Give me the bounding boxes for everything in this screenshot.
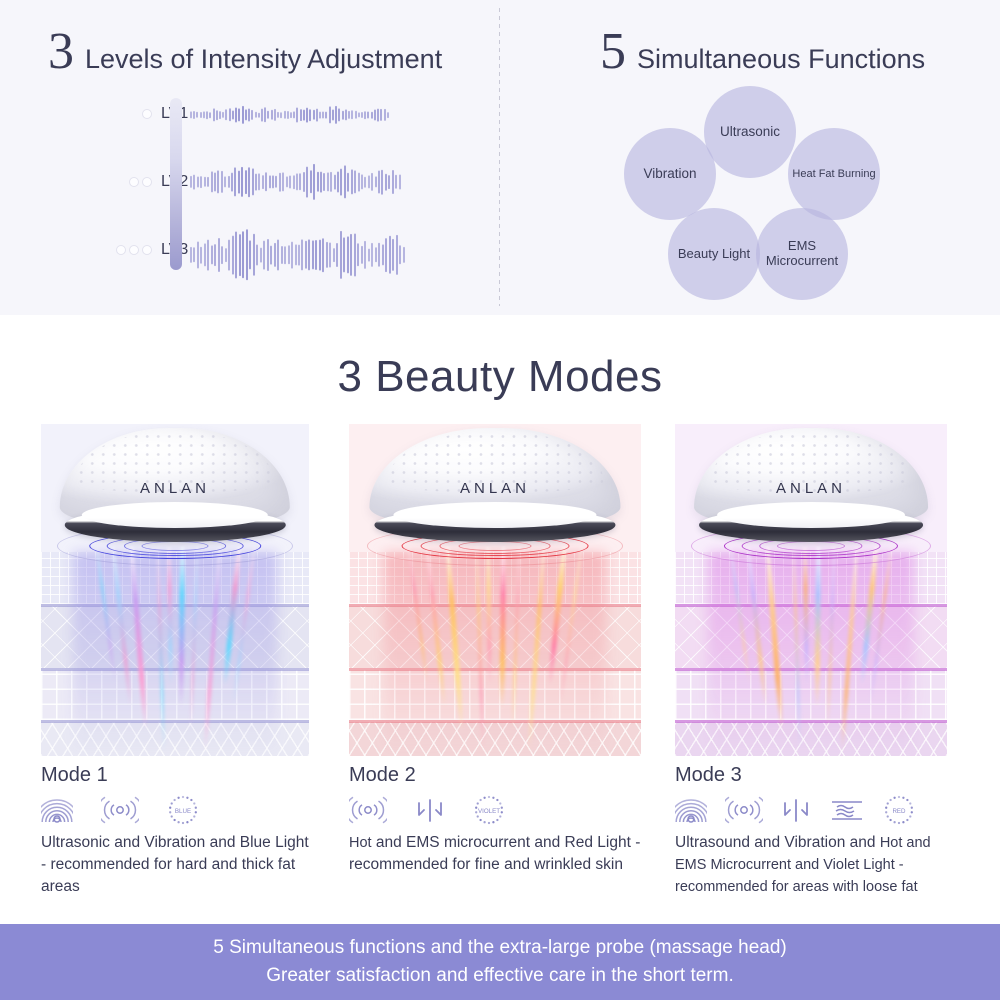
waveform-bar xyxy=(367,112,369,119)
waveform-lv3 xyxy=(190,222,406,288)
waveform-bar xyxy=(190,112,192,119)
functions-circles-cluster: Ultrasonic Heat Fat Burning EMS Microcur… xyxy=(612,86,902,308)
waveform-bar xyxy=(241,167,243,197)
mode-2-desc-lead: Hot xyxy=(349,835,372,851)
ultrasonic-icon xyxy=(675,795,707,825)
waveform-bar xyxy=(358,172,360,191)
waveform-bar xyxy=(193,174,195,189)
waveform-bar xyxy=(378,243,380,267)
function-circle-beauty-light[interactable]: Beauty Light xyxy=(668,208,760,300)
waveform-bar xyxy=(350,234,352,276)
energy-beam xyxy=(826,546,836,730)
level-dot xyxy=(142,245,152,255)
waveform-bar xyxy=(258,112,260,117)
vertical-dashed-divider xyxy=(499,8,500,306)
waveform-bar xyxy=(274,109,276,121)
waveform-bar xyxy=(355,111,357,119)
waveform-bar xyxy=(323,173,325,191)
waveform-bar xyxy=(296,174,298,191)
dome-shell: ANLAN xyxy=(694,428,928,528)
functions-panel-title: 5 Simultaneous Functions xyxy=(600,26,925,78)
device-dome: ANLAN xyxy=(369,428,620,528)
waveform-bar xyxy=(396,235,398,275)
function-circle-ems-microcurrent[interactable]: EMS Microcurrent xyxy=(756,208,848,300)
mode-1-desc-lead: Ultrasonic and Vibration and xyxy=(41,834,235,851)
level-dots-3 xyxy=(100,245,152,255)
energy-beam xyxy=(815,546,821,708)
waveform-bar xyxy=(319,111,321,118)
waveform-bar xyxy=(301,240,303,271)
waveform-bar xyxy=(284,111,286,119)
waveform-bar xyxy=(260,247,262,262)
waveform-bar xyxy=(329,242,331,267)
dome-rim-inner xyxy=(717,502,906,528)
waveform-bar xyxy=(347,172,349,191)
device-dome: ANLAN xyxy=(694,428,928,528)
beauty-modes-heading: 3 Beauty Modes xyxy=(0,352,1000,402)
waveform-bar xyxy=(388,175,390,189)
red-light-icon: RED xyxy=(883,794,915,826)
waveform-bar xyxy=(279,172,281,191)
mode-column-3: ANLAN Mode 3 RED Ultrasound and Vibratio… xyxy=(675,424,947,898)
dome-rim xyxy=(699,508,924,542)
energy-beam xyxy=(179,546,185,708)
waveform-bar xyxy=(364,176,366,188)
vibration-icon xyxy=(725,795,763,825)
waveform-bar xyxy=(204,244,206,267)
waveform-bar xyxy=(348,111,350,119)
waveform-bar xyxy=(333,248,335,262)
waveform-bar xyxy=(214,244,216,266)
waveform-bar xyxy=(271,110,273,120)
waveform-bar xyxy=(200,176,202,188)
device-dome: ANLAN xyxy=(60,428,290,528)
blue-light-icon: BLUE xyxy=(167,794,199,826)
waveform-bar xyxy=(269,176,271,189)
waveform-bar xyxy=(225,110,227,121)
waveform-bar xyxy=(258,174,260,191)
dome-shell: ANLAN xyxy=(60,428,290,528)
waveform-bar xyxy=(308,240,310,271)
waveform-bar xyxy=(251,110,253,120)
waveform-bar xyxy=(255,112,257,118)
waveform-bar xyxy=(211,172,213,193)
intensity-and-functions-section: 3 Levels of Intensity Adjustment LV1 LV2… xyxy=(0,0,1000,315)
waveform-bar xyxy=(200,246,202,263)
waveform-bar xyxy=(343,238,345,273)
waveform-bar xyxy=(375,248,377,263)
waveform-bar xyxy=(288,246,290,265)
mode-2-description: Hot and EMS microcurrent and Red Light -… xyxy=(349,832,641,876)
waveform-bar xyxy=(389,236,391,274)
waveform-bar xyxy=(319,239,321,270)
waveform-bar xyxy=(378,171,380,194)
mode-3-description: Ultrasound and Vibration and Hot and EMS… xyxy=(675,832,947,898)
mode-2-desc-rest: and EMS microcurrent and Red Light - rec… xyxy=(349,834,640,873)
waveform-bar xyxy=(354,234,356,277)
mode-3-device-illustration: ANLAN xyxy=(675,424,947,756)
level-dot xyxy=(142,177,152,187)
function-circle-label: Ultrasonic xyxy=(720,124,780,140)
waveform-bar xyxy=(256,244,258,265)
waveform-bar xyxy=(374,109,376,120)
intensity-slider-track[interactable] xyxy=(170,98,182,270)
energy-beams xyxy=(349,546,641,756)
energy-beam xyxy=(425,546,447,707)
waveform-bar xyxy=(290,112,292,118)
waveform-bar xyxy=(232,110,234,119)
waveform-bar xyxy=(371,243,373,267)
waveform-bar xyxy=(351,170,353,195)
waveform-bar xyxy=(306,107,308,122)
level-dot xyxy=(142,109,152,119)
intensity-panel-title-text: Levels of Intensity Adjustment xyxy=(85,44,442,75)
energy-beam xyxy=(156,546,166,752)
waveform-bar xyxy=(261,108,263,121)
waveform-bar xyxy=(322,238,324,272)
waveform-bar xyxy=(315,240,317,270)
function-circle-label: Vibration xyxy=(643,166,696,182)
waveform-bar xyxy=(284,246,286,264)
function-circle-ultrasonic[interactable]: Ultrasonic xyxy=(704,86,796,178)
waveform-bar xyxy=(368,248,370,261)
function-circle-label: EMS Microcurrent xyxy=(756,239,848,269)
level-dot xyxy=(129,245,139,255)
waveform-bar xyxy=(229,109,231,122)
banner-line-2: Greater satisfaction and effective care … xyxy=(266,962,734,990)
mode-1-icon-row: BLUE xyxy=(41,794,309,826)
waveform-bar xyxy=(371,111,373,118)
waveform-bar xyxy=(234,168,236,197)
brand-logo: ANLAN xyxy=(369,480,620,497)
waveform-bar xyxy=(381,169,383,194)
energy-beams xyxy=(675,546,947,756)
waveform-bar xyxy=(203,112,205,119)
mode-3-title: Mode 3 xyxy=(675,764,947,787)
intensity-panel-title: 3 Levels of Intensity Adjustment xyxy=(48,26,442,78)
waveform-bar xyxy=(296,108,298,123)
energy-beam xyxy=(203,546,222,752)
waveform-bar xyxy=(385,173,387,190)
waveform-bar xyxy=(313,110,315,120)
energy-beam xyxy=(129,546,148,730)
waveform-bar xyxy=(335,106,337,124)
waveform-bar xyxy=(217,171,219,194)
energy-beam xyxy=(512,546,522,730)
mode-column-2: ANLAN Mode 2 VIOLET Hot and EMS microcur… xyxy=(349,424,641,876)
waveform-bar xyxy=(211,246,213,265)
waveform-bar xyxy=(403,247,405,263)
waveform-bar xyxy=(262,175,264,189)
waveform-bar xyxy=(380,109,382,121)
energy-beam xyxy=(840,546,859,752)
waveform-bar xyxy=(385,238,387,272)
mode-2-icon-row: VIOLET xyxy=(349,794,641,826)
waveform-bar xyxy=(364,111,366,119)
waveform-bar xyxy=(345,110,347,121)
waveform-bar xyxy=(249,241,251,270)
waveform-bar xyxy=(248,109,250,122)
waveform-bar xyxy=(270,245,272,264)
waveform-bar xyxy=(322,111,324,118)
waveform-bar xyxy=(239,234,241,276)
waveform-bar xyxy=(235,107,237,122)
function-circle-label: Heat Fat Burning xyxy=(792,168,875,181)
waveform-bar xyxy=(358,113,360,118)
waveform-bar xyxy=(357,244,359,267)
waveform-bar xyxy=(332,110,334,121)
waveform-bar xyxy=(218,238,220,272)
vibration-icon xyxy=(101,795,139,825)
waveform-bar xyxy=(193,248,195,263)
waveform-bar xyxy=(282,173,284,192)
waveform-bar xyxy=(221,246,223,264)
waveform-bar xyxy=(309,109,311,122)
waveform-bar xyxy=(245,110,247,121)
energy-beams xyxy=(41,546,309,756)
waveform-bar xyxy=(280,112,282,118)
banner-line-1: 5 Simultaneous functions and the extra-l… xyxy=(213,934,787,962)
waveform-bar xyxy=(337,171,339,192)
waveform-bar xyxy=(197,241,199,268)
waveform-bar xyxy=(267,239,269,271)
waveform-bar xyxy=(245,170,247,194)
intensity-panel-number: 3 xyxy=(48,26,74,78)
functions-panel-number: 5 xyxy=(600,26,626,78)
waveform-bar xyxy=(287,111,289,119)
waveform-bar xyxy=(399,246,401,265)
waveform-bar xyxy=(375,177,377,188)
waveform-bar xyxy=(347,237,349,274)
waveform-bar xyxy=(204,177,206,187)
waveform-bar xyxy=(395,175,397,189)
waveform-bar xyxy=(334,174,336,189)
dome-rim xyxy=(64,508,285,542)
waveform-bar xyxy=(263,240,265,269)
mode-2-device-illustration: ANLAN xyxy=(349,424,641,756)
waveform-bar xyxy=(207,177,209,187)
waveform-bar xyxy=(216,110,218,120)
brand-logo: ANLAN xyxy=(60,480,290,497)
waveform-bar xyxy=(371,173,373,191)
waveform-bar xyxy=(248,167,250,198)
energy-beam xyxy=(527,546,546,752)
waveform-bar xyxy=(293,112,295,119)
waveform-bar xyxy=(275,176,277,188)
waveform-bar xyxy=(265,173,267,192)
energy-beam xyxy=(445,546,464,730)
waveform-bar xyxy=(200,112,202,118)
waveform-bar xyxy=(325,111,327,118)
waveform-bar xyxy=(312,241,314,270)
ultrasonic-icon xyxy=(41,795,73,825)
waveform-bar xyxy=(222,112,224,118)
waveform-bar xyxy=(354,171,356,194)
bottom-banner: 5 Simultaneous functions and the extra-l… xyxy=(0,924,1000,1000)
waveform-bar xyxy=(340,168,342,195)
waveform-bar xyxy=(207,239,209,270)
waveform-bar xyxy=(317,172,319,192)
waveform-bar xyxy=(242,106,244,124)
function-circle-heat-fat-burning[interactable]: Heat Fat Burning xyxy=(788,128,880,220)
level-dot xyxy=(129,177,139,187)
waveform-bar xyxy=(299,174,301,191)
waveform-bar xyxy=(225,248,227,262)
mode-1-title: Mode 1 xyxy=(41,764,309,787)
mode-1-device-illustration: ANLAN xyxy=(41,424,309,756)
waveform-bar xyxy=(351,111,353,120)
function-circle-label: Beauty Light xyxy=(678,247,750,262)
waveform-bar xyxy=(336,243,338,267)
energy-beam xyxy=(190,546,200,730)
dome-rim xyxy=(374,508,615,542)
waveform-bar xyxy=(361,175,363,190)
waveform-bar xyxy=(342,110,344,119)
waveform-bar xyxy=(361,112,363,118)
waveform-bar xyxy=(327,173,329,192)
waveform-bar xyxy=(253,234,255,276)
waveform-bar xyxy=(330,172,332,192)
svg-text:RED: RED xyxy=(892,808,906,815)
waveform-bar xyxy=(193,111,195,119)
waveform-bar xyxy=(326,242,328,268)
waveform-bar xyxy=(281,246,283,264)
waveform-bar xyxy=(338,109,340,122)
waveform-bar xyxy=(214,172,216,191)
mode-1-description: Ultrasonic and Vibration and Blue Light … xyxy=(41,832,309,898)
function-circle-vibration[interactable]: Vibration xyxy=(624,128,716,220)
waveform-bar xyxy=(242,232,244,279)
waveform-bar xyxy=(399,175,401,190)
waveform-bar xyxy=(382,245,384,266)
dome-rim-inner xyxy=(394,502,596,528)
waveform-bar xyxy=(316,108,318,121)
mode-2-title: Mode 2 xyxy=(349,764,641,787)
waveform-bar xyxy=(274,243,276,267)
waveform-bar xyxy=(221,171,223,193)
ems-icon xyxy=(415,795,445,825)
energy-beam xyxy=(765,546,784,730)
dome-rim-inner xyxy=(82,502,268,528)
waveform-bar xyxy=(235,231,237,278)
waveform-bar xyxy=(340,231,342,279)
energy-beam xyxy=(792,546,802,752)
energy-beam xyxy=(499,546,505,708)
waveform-bar xyxy=(190,247,192,263)
waveform-bar xyxy=(384,109,386,121)
waveform-bar xyxy=(364,241,366,269)
brand-logo: ANLAN xyxy=(694,480,928,497)
waveform-bar xyxy=(228,239,230,270)
waveform-bar xyxy=(298,244,300,265)
svg-text:VIOLET: VIOLET xyxy=(478,808,500,815)
waveform-bar xyxy=(368,176,370,189)
waveform-lv1 xyxy=(190,102,390,128)
waveform-bar xyxy=(329,107,331,124)
waveform-bar xyxy=(377,108,379,121)
vibration-icon xyxy=(349,795,387,825)
waveform-bar xyxy=(206,111,208,119)
waveform-bar xyxy=(272,176,274,189)
level-dots-2 xyxy=(100,177,152,187)
waveform-bar xyxy=(361,246,363,264)
waveform-bar xyxy=(252,169,254,196)
waveform-bar xyxy=(277,112,279,118)
waveform-bar xyxy=(306,166,308,197)
waveform-bar xyxy=(320,171,322,192)
waveform-bar xyxy=(264,108,266,123)
svg-text:BLUE: BLUE xyxy=(175,808,191,815)
mode-3-desc-lead: Ultrasound and Vibration and xyxy=(675,834,876,851)
waveform-bar xyxy=(232,235,234,274)
waveform-bar xyxy=(255,173,257,190)
waveform-bar xyxy=(293,175,295,189)
energy-beam xyxy=(475,546,485,752)
waveform-bar xyxy=(238,109,240,122)
waveform-bar xyxy=(277,240,279,271)
waveform-bar xyxy=(196,112,198,118)
waveform-bar xyxy=(209,112,211,118)
waveform-bar xyxy=(300,109,302,121)
level-dot xyxy=(116,245,126,255)
waveform-bar xyxy=(289,175,291,188)
waveform-bar xyxy=(197,176,199,187)
waveform-bar xyxy=(305,241,307,269)
waveform-bar xyxy=(303,109,305,120)
violet-light-icon: VIOLET xyxy=(473,794,505,826)
waveform-bar xyxy=(310,171,312,194)
waveform-bar xyxy=(313,164,315,200)
level-dots-1 xyxy=(100,109,152,119)
waveform-bar xyxy=(387,112,389,118)
waveform-bar xyxy=(228,176,230,188)
waveform-bar xyxy=(392,239,394,271)
waveform-bar xyxy=(238,170,240,193)
waveform-bar xyxy=(295,245,297,266)
waveform-bar xyxy=(392,170,394,194)
waveform-bar xyxy=(291,241,293,268)
waveform-bar xyxy=(286,177,288,188)
ems-icon xyxy=(781,795,811,825)
waveform-lv2 xyxy=(190,160,402,204)
heat-icon xyxy=(829,795,865,825)
waveform-bar xyxy=(231,172,233,191)
dome-shell: ANLAN xyxy=(369,428,620,528)
waveform-bar xyxy=(267,111,269,119)
waveform-bar xyxy=(213,109,215,122)
functions-panel-title-text: Simultaneous Functions xyxy=(637,44,925,75)
waveform-bar xyxy=(190,176,192,188)
waveform-bar xyxy=(344,166,346,199)
waveform-bar xyxy=(219,111,221,119)
mode-column-1: ANLAN Mode 1 BLUE Ultrasonic and Vibrati… xyxy=(41,424,309,898)
waveform-bar xyxy=(303,172,305,192)
mode-3-icon-row: RED xyxy=(675,794,947,826)
waveform-bar xyxy=(246,230,248,281)
waveform-bar xyxy=(224,177,226,188)
